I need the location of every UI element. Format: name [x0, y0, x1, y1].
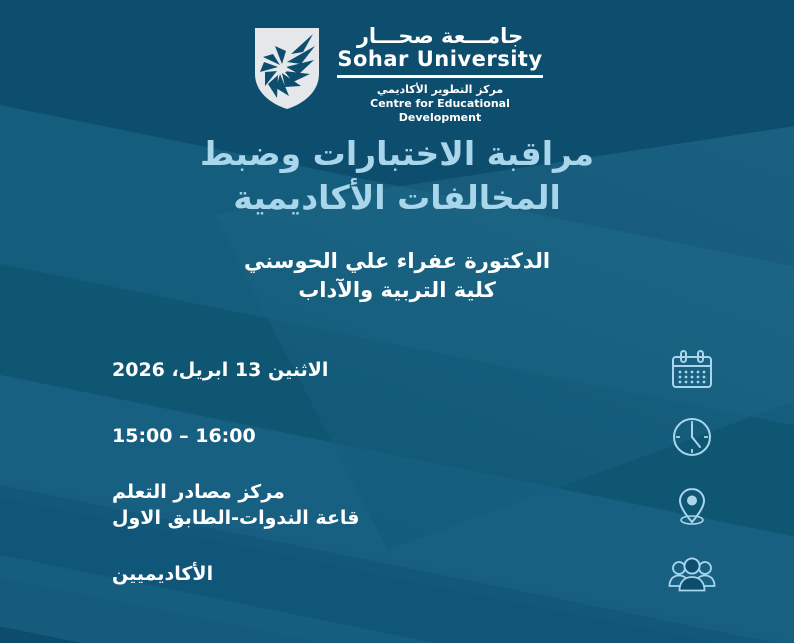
band-6 [0, 614, 794, 643]
logo-centre-name-en-line2: Development [337, 111, 542, 125]
logo-centre-name-ar: مركز التطوير الأكاديمي [337, 83, 542, 97]
detail-row-audience: الأكاديميين [106, 542, 726, 608]
sohar-university-shield-emblem [251, 24, 323, 112]
clock-icon [658, 415, 726, 459]
event-details-list: الاثنين 13 ابريل، 2026 16:00 – 15:00 [106, 338, 726, 608]
page-title: مراقبة الاختبارات وضبط المخالفات الأكادي… [40, 132, 754, 219]
detail-text-location: مركز مصادر التعلم قاعة الندوات-الطابق ال… [106, 480, 658, 531]
detail-text-audience: الأكاديميين [106, 562, 658, 588]
detail-audience-line-1: الأكاديميين [112, 563, 213, 585]
detail-row-location: مركز مصادر التعلم قاعة الندوات-الطابق ال… [106, 470, 726, 542]
speaker-affiliation: كلية التربية والآداب [40, 276, 754, 305]
detail-row-time: 16:00 – 15:00 [106, 404, 726, 470]
detail-text-date: الاثنين 13 ابريل، 2026 [106, 358, 658, 384]
detail-row-date: الاثنين 13 ابريل، 2026 [106, 338, 726, 404]
logo-centre-name-en-line1: Centre for Educational [337, 97, 542, 111]
page-title-line-2: المخالفات الأكاديمية [40, 176, 754, 220]
detail-date-line-1: الاثنين 13 ابريل، 2026 [112, 359, 328, 381]
logo-university-name-en: Sohar University [337, 48, 542, 71]
logo-divider [337, 75, 542, 78]
detail-location-line-1: مركز مصادر التعلم [112, 480, 658, 506]
logo-university-name-ar: جامـــعة صحـــار [337, 24, 542, 48]
speaker-name: الدكتورة عفراء علي الحوسني [40, 247, 754, 276]
location-pin-icon [658, 484, 726, 528]
logo-lockup: جامـــعة صحـــار Sohar University مركز ا… [0, 24, 794, 126]
page-title-line-1: مراقبة الاختبارات وضبط [40, 132, 754, 176]
detail-time-line-1: 16:00 – 15:00 [112, 425, 256, 447]
people-group-icon [658, 553, 726, 597]
speaker-block: الدكتورة عفراء علي الحوسني كلية التربية … [40, 247, 754, 305]
calendar-icon [658, 349, 726, 393]
event-poster: جامـــعة صحـــار Sohar University مركز ا… [0, 0, 794, 643]
detail-location-line-2: قاعة الندوات-الطابق الاول [112, 506, 658, 532]
detail-text-time: 16:00 – 15:00 [106, 424, 658, 450]
